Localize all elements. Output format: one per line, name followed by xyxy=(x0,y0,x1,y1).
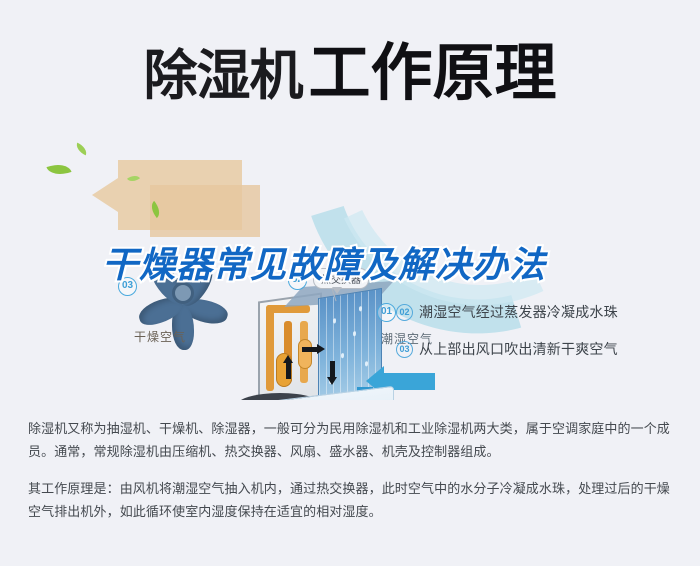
leaf-icon xyxy=(46,160,71,180)
body-paragraph-1: 除湿机又称为抽湿机、干燥机、除湿器，一般可分为民用除湿机和工业除湿机两大类，属于… xyxy=(28,417,676,463)
legend-badge-02: 02 xyxy=(396,304,413,321)
infographic-page: 除湿机工作原理 xyxy=(0,0,700,566)
legend-item: 03 从上部出风口吹出清新干爽空气 xyxy=(396,339,696,359)
refrigerant-arrow-down-icon xyxy=(330,361,335,377)
diagram-legend: 02 潮湿空气经过蒸发器冷凝成水珠 03 从上部出风口吹出清新干爽空气 xyxy=(396,302,696,376)
page-title-secondary: 工作原理 xyxy=(308,39,556,108)
legend-item: 02 潮湿空气经过蒸发器冷凝成水珠 xyxy=(396,302,696,322)
dry-air-arrow-tail-icon xyxy=(150,185,260,237)
legend-text-02: 潮湿空气经过蒸发器冷凝成水珠 xyxy=(419,302,618,322)
body-copy: 除湿机又称为抽湿机、干燥机、除湿器，一般可分为民用除湿机和工业除湿机两大类，属于… xyxy=(28,417,676,523)
page-title: 除湿机工作原理 xyxy=(0,22,700,112)
body-paragraph-2: 其工作原理是：由风机将潮湿空气抽入机内，通过热交换器，此时空气中的水分子冷凝成水… xyxy=(28,477,676,523)
dry-air-label: 干燥空气 xyxy=(134,328,186,345)
compressor-cylinder-icon xyxy=(298,339,312,369)
overlay-headline: 干燥器常见故障及解决办法 xyxy=(102,243,602,287)
refrigerant-pipe-icon xyxy=(266,305,274,391)
legend-badge-03: 03 xyxy=(396,341,413,358)
legend-text-03: 从上部出风口吹出清新干爽空气 xyxy=(419,339,618,359)
diagram-badge-01: 01 xyxy=(377,303,396,322)
leaf-icon xyxy=(74,143,89,156)
refrigerant-arrow-up-icon xyxy=(286,363,291,379)
airflow-arrow-right-icon xyxy=(302,347,318,352)
page-title-primary: 除湿机 xyxy=(143,46,302,106)
